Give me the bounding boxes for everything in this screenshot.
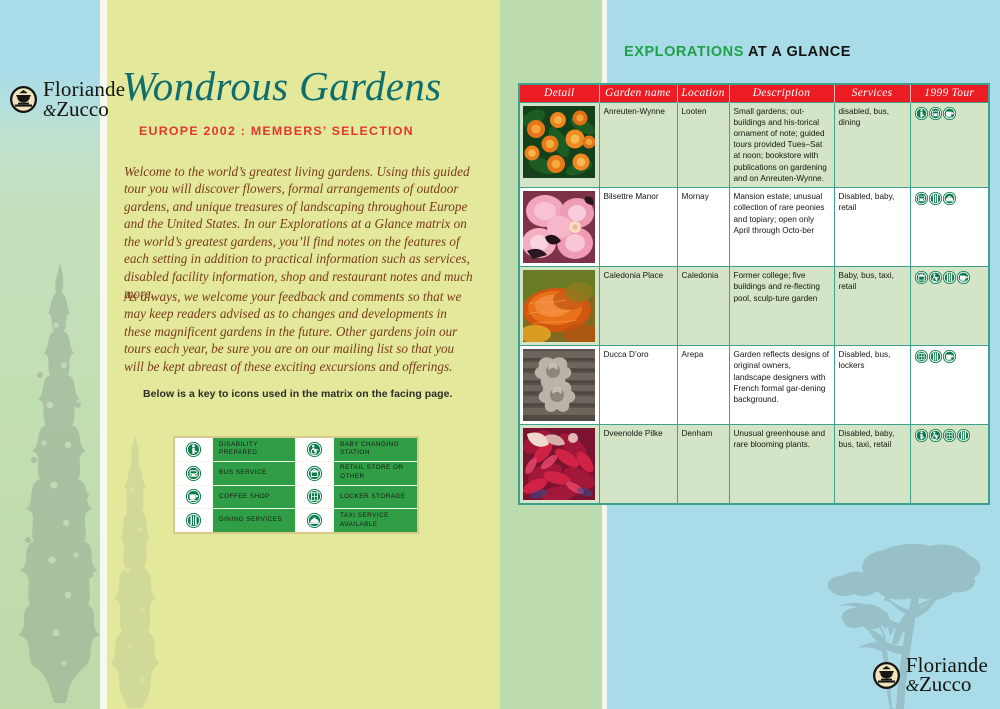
key-icon-cell bbox=[296, 462, 334, 485]
table-header-row: Detail Garden name Location Description … bbox=[519, 84, 989, 102]
stone-carving-photo bbox=[523, 349, 595, 421]
dining-icon bbox=[943, 271, 956, 284]
intro-paragraph-2: As always, we welcome your feedback and … bbox=[124, 288, 474, 375]
key-icon-cell bbox=[296, 438, 334, 461]
cell-description: Garden reflects designs of original owne… bbox=[729, 346, 834, 425]
coffee-icon bbox=[943, 350, 956, 363]
cell-location: Denham bbox=[677, 425, 729, 505]
retail-icon bbox=[307, 466, 322, 481]
key-item: TAXI SERVICE AVAILABLE bbox=[296, 509, 417, 532]
urn-logo-icon bbox=[873, 662, 900, 689]
cell-tour-icons bbox=[910, 267, 989, 346]
red-leaves-photo bbox=[523, 428, 595, 500]
section-title-rest: AT A GLANCE bbox=[748, 44, 851, 60]
taxi-icon bbox=[307, 513, 322, 528]
section-title-accent: EXPLORATIONS bbox=[624, 44, 744, 60]
cell-description: Unusual greenhouse and rare blooming pla… bbox=[729, 425, 834, 505]
brand-logo-bottom: Floriande &Zucco bbox=[873, 656, 988, 695]
cell-description: Former college; five buildings and re-fl… bbox=[729, 267, 834, 346]
table-row: Anreuten-Wynne Looten Small gardens; out… bbox=[519, 102, 989, 188]
orange-marigolds-photo bbox=[523, 106, 595, 178]
disability-icon bbox=[915, 429, 928, 442]
cell-location: Caledonia bbox=[677, 267, 729, 346]
key-item: DINING SERVICES bbox=[175, 509, 296, 532]
page-subtitle: EUROPE 2002 : MEMBERS’ SELECTION bbox=[139, 124, 414, 138]
key-icon-cell bbox=[175, 438, 213, 461]
cell-detail bbox=[519, 102, 599, 188]
cell-garden-name: Dveenolde Pilke bbox=[599, 425, 677, 505]
cell-location: Mornay bbox=[677, 188, 729, 267]
cell-description: Mansion estate; unusual collection of ra… bbox=[729, 188, 834, 267]
column-header-services: Services bbox=[834, 84, 910, 102]
column-header-garden-name: Garden name bbox=[599, 84, 677, 102]
table-row: Ducca D’oro Arepa Garden reflects design… bbox=[519, 346, 989, 425]
section-title: EXPLORATIONS AT A GLANCE bbox=[624, 44, 851, 60]
pink-peonies-photo bbox=[523, 191, 595, 263]
cell-tour-icons bbox=[910, 425, 989, 505]
key-item-label: TAXI SERVICE AVAILABLE bbox=[334, 509, 417, 532]
key-item-label: DINING SERVICES bbox=[213, 509, 295, 532]
column-header-location: Location bbox=[677, 84, 729, 102]
cell-services: Disabled, baby, bus, taxi, retail bbox=[834, 425, 910, 505]
cell-tour-icons bbox=[910, 346, 989, 425]
key-item-label: DISABILITY PREPARED bbox=[213, 438, 295, 461]
cell-services: Disabled, baby, retail bbox=[834, 188, 910, 267]
dining-icon bbox=[929, 350, 942, 363]
cell-services: Baby, bus, taxi, retail bbox=[834, 267, 910, 346]
cell-garden-name: Caledonia Place bbox=[599, 267, 677, 346]
key-item-label: COFFEE SHOP bbox=[213, 486, 295, 509]
key-icon-cell bbox=[175, 509, 213, 532]
coffee-icon bbox=[943, 107, 956, 120]
table-row: Dveenolde Pilke Denham Unusual greenhous… bbox=[519, 425, 989, 505]
key-icon-cell bbox=[296, 486, 334, 509]
tour-icon-group bbox=[915, 350, 985, 363]
key-item: BUS SERVICE bbox=[175, 462, 296, 486]
bus-icon bbox=[929, 107, 942, 120]
cell-services: disabled, bus, dining bbox=[834, 102, 910, 188]
cell-services: Disabled, bus, lockers bbox=[834, 346, 910, 425]
dining-icon bbox=[957, 429, 970, 442]
bus-icon bbox=[186, 466, 201, 481]
locker-icon bbox=[307, 489, 322, 504]
key-item: BABY CHANGING STATION bbox=[296, 438, 417, 462]
column-header-tour: 1999 Tour bbox=[910, 84, 989, 102]
coffee-icon bbox=[186, 489, 201, 504]
taxi-icon bbox=[943, 192, 956, 205]
locker-icon bbox=[943, 429, 956, 442]
tour-icon-group bbox=[915, 107, 985, 120]
coffee-icon bbox=[957, 271, 970, 284]
key-column-right: BABY CHANGING STATION bbox=[296, 438, 417, 532]
icon-key-legend: DISABILITY PREPARED BU bbox=[173, 436, 419, 534]
cell-tour-icons bbox=[910, 188, 989, 267]
key-item-label: LOCKER STORAGE bbox=[334, 486, 417, 509]
disability-icon bbox=[186, 442, 201, 457]
dining-icon bbox=[929, 192, 942, 205]
cell-description: Small gardens; out-buildings and his-tor… bbox=[729, 102, 834, 188]
column-header-description: Description bbox=[729, 84, 834, 102]
brand-wordmark: Floriande &Zucco bbox=[43, 80, 125, 119]
cell-tour-icons bbox=[910, 102, 989, 188]
column-header-detail: Detail bbox=[519, 84, 599, 102]
key-item-label: BABY CHANGING STATION bbox=[334, 438, 417, 461]
locker-icon bbox=[915, 350, 928, 363]
tour-icon-group bbox=[915, 271, 985, 284]
key-icon-cell bbox=[175, 486, 213, 509]
page-title: Wondrous Gardens bbox=[122, 62, 442, 110]
brochure-page: Floriande &Zucco Floriande &Zucco bbox=[0, 0, 1000, 709]
cell-detail bbox=[519, 346, 599, 425]
tour-icon-group bbox=[915, 429, 985, 442]
baby-changing-icon bbox=[929, 271, 942, 284]
key-item-label: RETAIL STORE OR OTHER bbox=[334, 462, 417, 485]
cell-location: Looten bbox=[677, 102, 729, 188]
key-item: COFFEE SHOP bbox=[175, 486, 296, 510]
cell-detail bbox=[519, 267, 599, 346]
key-item-label: BUS SERVICE bbox=[213, 462, 295, 485]
table-row: Caledonia Place Caledonia Former college… bbox=[519, 267, 989, 346]
key-item: LOCKER STORAGE bbox=[296, 486, 417, 510]
key-column-left: DISABILITY PREPARED BU bbox=[175, 438, 296, 532]
tour-icon-group bbox=[915, 192, 985, 205]
cell-garden-name: Bilsettre Manor bbox=[599, 188, 677, 267]
brand-wordmark: Floriande &Zucco bbox=[906, 656, 988, 695]
orange-foliage-photo bbox=[523, 270, 595, 342]
key-icon-cell bbox=[175, 462, 213, 485]
retail-icon bbox=[915, 271, 928, 284]
explorations-matrix-table: Detail Garden name Location Description … bbox=[518, 83, 990, 505]
key-item: RETAIL STORE OR OTHER bbox=[296, 462, 417, 486]
dining-icon bbox=[186, 513, 201, 528]
intro-paragraph-1: Welcome to the world’s greatest living g… bbox=[124, 163, 474, 302]
cell-garden-name: Ducca D’oro bbox=[599, 346, 677, 425]
table-row: Bilsettre Manor Mornay Mansion estate; u… bbox=[519, 188, 989, 267]
cell-detail bbox=[519, 425, 599, 505]
bus-icon bbox=[915, 192, 928, 205]
key-item: DISABILITY PREPARED bbox=[175, 438, 296, 462]
baby-changing-icon bbox=[307, 442, 322, 457]
cell-garden-name: Anreuten-Wynne bbox=[599, 102, 677, 188]
disability-icon bbox=[915, 107, 928, 120]
key-caption: Below is a key to icons used in the matr… bbox=[143, 388, 452, 400]
cell-detail bbox=[519, 188, 599, 267]
key-icon-cell bbox=[296, 509, 334, 532]
baby-changing-icon bbox=[929, 429, 942, 442]
cell-location: Arepa bbox=[677, 346, 729, 425]
urn-logo-icon bbox=[10, 86, 37, 113]
brand-logo-top: Floriande &Zucco bbox=[10, 80, 125, 119]
